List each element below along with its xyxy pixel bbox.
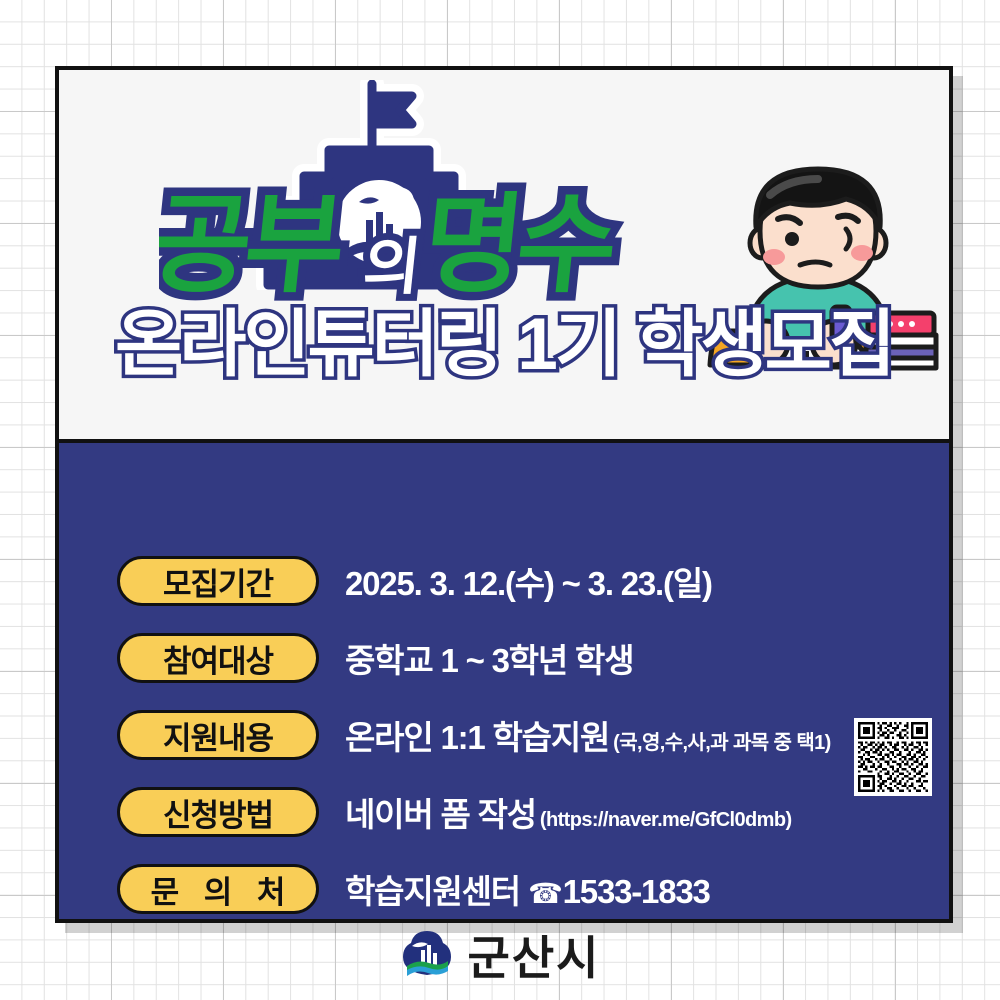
info-row-target: 참여대상 중학교 1 ~ 3학년 학생: [117, 630, 949, 686]
telephone-icon: ☎: [528, 877, 562, 910]
gunsan-city-logo: [400, 926, 454, 985]
value-text: 네이버 폼 작성: [345, 788, 536, 836]
value-text: 온라인 1:1 학습지원: [345, 711, 609, 759]
value-note: (국,영,수,사,과 과목 중 택1): [613, 726, 831, 755]
qr-code[interactable]: [854, 718, 932, 796]
info-row-recruit-period: 모집기간 2025. 3. 12.(수) ~ 3. 23.(일): [117, 553, 949, 609]
info-row-apply-method: 신청방법 네이버 폼 작성 (https://naver.me/GfCl0dmb…: [117, 784, 949, 840]
info-row-contact: 문 의 처 학습지원센터 ☎ 1533-1833: [117, 861, 949, 917]
value-contact: 학습지원센터 ☎ 1533-1833: [345, 865, 710, 913]
poster-stage: 공부 의 명수: [0, 0, 1000, 1000]
footer-city-name: 군산시: [468, 922, 601, 988]
poster-card: 공부 의 명수: [55, 66, 953, 923]
badge-target: 참여대상: [117, 633, 319, 683]
logo-text-myeongsu: 명수: [418, 184, 620, 305]
logo-text-ui: 의: [360, 233, 424, 302]
badge-apply-method: 신청방법: [117, 787, 319, 837]
footer: 군산시: [0, 920, 1000, 990]
value-text: 중학교 1 ~ 3학년 학생: [345, 634, 633, 682]
value-recruit-period: 2025. 3. 12.(수) ~ 3. 23.(일): [345, 557, 712, 605]
value-support: 온라인 1:1 학습지원 (국,영,수,사,과 과목 중 택1): [345, 711, 831, 759]
value-text: 2025. 3. 12.(수) ~ 3. 23.(일): [345, 557, 712, 605]
poster-hero: 공부 의 명수: [59, 70, 949, 443]
value-target: 중학교 1 ~ 3학년 학생: [345, 634, 633, 682]
value-apply-method: 네이버 폼 작성 (https://naver.me/GfCl0dmb): [345, 788, 792, 836]
badge-support: 지원내용: [117, 710, 319, 760]
info-row-support: 지원내용 온라인 1:1 학습지원 (국,영,수,사,과 과목 중 택1): [117, 707, 949, 763]
contact-phone-number[interactable]: 1533-1833: [563, 873, 710, 911]
poster-subtitle: 온라인튜터링 1기 학생모집: [59, 308, 949, 381]
apply-url-note[interactable]: (https://naver.me/GfCl0dmb): [540, 809, 792, 832]
badge-recruit-period: 모집기간: [117, 556, 319, 606]
logo-text-gongbu: 공부: [159, 184, 347, 305]
badge-contact: 문 의 처: [117, 864, 319, 914]
value-text: 학습지원센터: [345, 865, 520, 913]
program-logo-wordmark: 공부 의 명수: [159, 178, 679, 318]
poster-info-panel: 모집기간 2025. 3. 12.(수) ~ 3. 23.(일) 참여대상 중학…: [59, 443, 949, 919]
